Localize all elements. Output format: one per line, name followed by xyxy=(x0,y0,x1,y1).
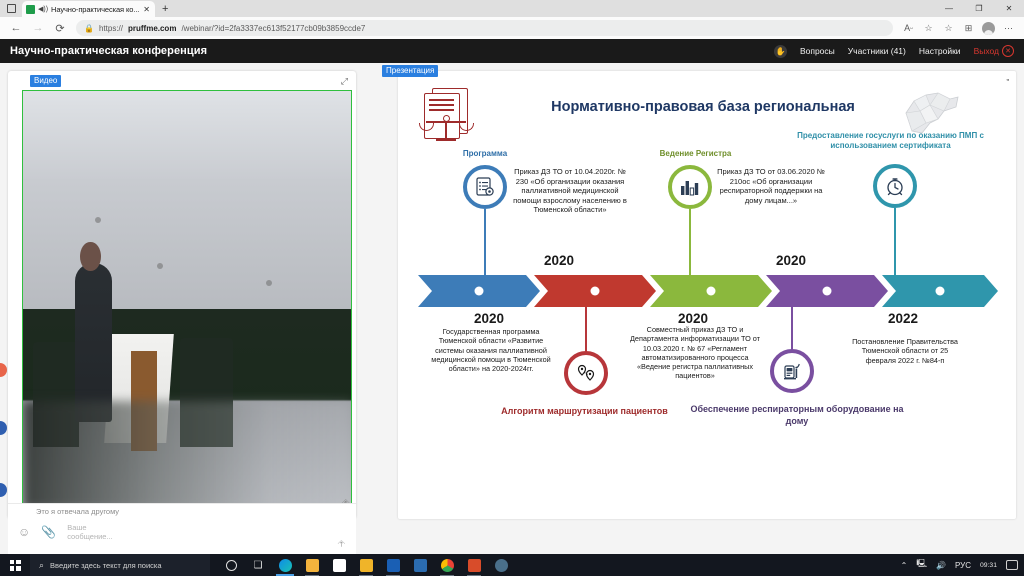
slide-title: Нормативно-правовая база региональная xyxy=(538,99,868,115)
order-text-210os: Приказ ДЗ ТО от 03.06.2020 № 210ос «Об о… xyxy=(716,167,826,205)
video-spot xyxy=(95,217,101,223)
video-speaker-head xyxy=(80,242,100,271)
exit-label: Выход xyxy=(974,46,999,56)
entry-year: 2022 xyxy=(848,311,958,326)
chrome-icon[interactable] xyxy=(434,554,460,576)
edge-badge-participant[interactable] xyxy=(0,421,7,435)
volume-icon[interactable]: 🔊 xyxy=(936,561,946,570)
chat-last-message: Это я отвечала другому xyxy=(36,507,119,516)
browser-essentials-icon[interactable]: ⊞ xyxy=(959,19,978,37)
chat-input-row: ☺ 📎 Ваше сообщение... xyxy=(18,523,125,541)
tab-list-icon xyxy=(7,4,16,13)
speaker-icon[interactable]: ◀)) xyxy=(38,6,48,13)
caption-routing: Алгоритм маршрутизации пациентов xyxy=(482,405,687,417)
nav-item-participants[interactable]: Участники (41) xyxy=(848,46,906,56)
language-indicator[interactable]: РУС xyxy=(955,561,971,570)
app-nav: ✋ Вопросы Участники (41) Настройки Выход… xyxy=(774,45,1014,58)
search-input[interactable]: ⌕ Введите здесь текст для поиска xyxy=(30,554,210,576)
node-registr xyxy=(668,165,712,209)
node-programma xyxy=(463,165,507,209)
site-favicon xyxy=(26,5,35,14)
clock-icon xyxy=(884,175,906,197)
clock[interactable]: 09:31 xyxy=(980,561,997,570)
heading-gosuslugi: Предоставление госуслуги по оказанию ПМП… xyxy=(788,131,993,151)
year-above-band: 2020 xyxy=(776,253,806,268)
tab-list-button[interactable] xyxy=(0,0,22,17)
video-blur-overlay xyxy=(23,401,351,510)
edge-badge-notification[interactable] xyxy=(0,363,7,377)
tab-presentation[interactable]: Презентация xyxy=(382,65,438,77)
order-text-230: Приказ ДЗ ТО от 10.04.2020г. № 230 «Об о… xyxy=(510,167,630,215)
collections-settings-icon[interactable]: ☆ xyxy=(919,19,938,37)
video-spot xyxy=(266,280,272,286)
heading-vedenie-registra: Ведение Регистра xyxy=(643,149,748,159)
edge-icon[interactable] xyxy=(272,554,298,576)
address-bar[interactable]: 🔒 https://pruffme.com/webinar/?id=2fa333… xyxy=(76,20,893,36)
chevron-red xyxy=(534,275,656,307)
entry-year: 2020 xyxy=(638,311,748,326)
search-placeholder: Введите здесь текст для поиска xyxy=(50,561,162,570)
connector-line xyxy=(894,208,896,285)
heading-programma: Программа xyxy=(440,149,530,159)
exit-button[interactable]: Выход ✕ xyxy=(974,45,1014,57)
back-icon[interactable]: ← xyxy=(6,19,26,37)
chevron-green xyxy=(650,275,772,307)
url-domain: pruffme.com xyxy=(128,24,176,33)
search-icon: ⌕ xyxy=(39,560,44,571)
forward-icon[interactable]: → xyxy=(28,19,48,37)
app-body: ⤢ Видео ⇱ Это я отвечала xyxy=(0,63,1024,554)
task-view-icon[interactable]: ❏ xyxy=(245,554,271,576)
page-title: Научно-практическая конференция xyxy=(10,45,207,57)
lock-icon: 🔒 xyxy=(84,24,94,33)
year-above-band: 2020 xyxy=(544,253,574,268)
node-certificate xyxy=(873,164,917,208)
windows-taskbar: ⌕ Введите здесь текст для поиска ❏ ⌃ 🖳 🔊… xyxy=(0,554,1024,576)
resize-handle-icon[interactable]: ⇱ xyxy=(336,539,346,549)
browser-titlebar: ◀)) Научно-практическая ко... ✕ + — ❐ ✕ xyxy=(0,0,1024,17)
microsoft-store-icon[interactable] xyxy=(299,554,325,576)
entry-text: Постановление Правительства Тюменской об… xyxy=(850,337,960,365)
entry-text: Совместный приказ ДЗ ТО и Департамента и… xyxy=(624,325,766,381)
video-panel-tabbar: ⤢ Видео xyxy=(8,71,356,89)
notifications-icon[interactable] xyxy=(1006,560,1018,570)
screen: ◀)) Научно-практическая ко... ✕ + — ❐ ✕ … xyxy=(0,0,1024,576)
node-respiratory xyxy=(770,349,814,393)
browser-toolbar: ← → ⟳ 🔒 https://pruffme.com/webinar/?id=… xyxy=(0,17,1024,39)
minimize-button[interactable]: — xyxy=(934,0,964,17)
video-panel: ⤢ Видео ⇱ xyxy=(8,71,356,519)
map-pins-icon xyxy=(575,362,597,384)
nav-item-questions[interactable]: Вопросы xyxy=(800,46,835,56)
chat-panel: Это я отвечала другому ☺ 📎 Ваше сообщени… xyxy=(8,503,356,554)
entry-year: 2020 xyxy=(434,311,544,326)
node-routing xyxy=(564,351,608,395)
slide-canvas[interactable]: Нормативно-правовая база региональная Пр… xyxy=(398,81,1016,509)
gimp-icon[interactable] xyxy=(461,554,487,576)
connector-line xyxy=(689,209,691,285)
chat-message-input[interactable]: Ваше сообщение... xyxy=(67,523,125,541)
raise-hand-icon[interactable]: ✋ xyxy=(774,45,787,58)
video-ceiling xyxy=(23,91,351,179)
browser-tool-icons: Aᴗ ☆ ☆ ⊞ ⋯ xyxy=(899,19,1018,37)
profile-avatar-icon[interactable] xyxy=(979,19,998,37)
nav-item-settings[interactable]: Настройки xyxy=(919,46,961,56)
reload-icon[interactable]: ⟳ xyxy=(50,19,70,37)
chevron-blue xyxy=(418,275,540,307)
remote-desktop-icon[interactable] xyxy=(407,554,433,576)
chevron-teal xyxy=(882,275,998,307)
outlook-icon[interactable] xyxy=(380,554,406,576)
browser-tab[interactable]: ◀)) Научно-практическая ко... ✕ xyxy=(22,1,155,17)
window-close-button[interactable]: ✕ xyxy=(994,0,1024,17)
tray-chevron-icon[interactable]: ⌃ xyxy=(901,561,908,570)
paperclip-icon[interactable]: 📎 xyxy=(41,525,56,539)
maximize-button[interactable]: ❐ xyxy=(964,0,994,17)
bar-chart-icon xyxy=(679,177,701,197)
chevron-dot xyxy=(475,287,484,296)
network-icon[interactable]: 🖳 xyxy=(916,558,927,572)
presentation-panel: ⤢ xyxy=(398,71,1016,519)
window-controls: — ❐ ✕ xyxy=(934,0,1024,17)
expand-icon[interactable]: ⤢ xyxy=(341,76,348,87)
app-header: Научно-практическая конференция ✋ Вопрос… xyxy=(0,39,1024,63)
url-scheme: https:// xyxy=(99,24,123,33)
respirator-device-icon xyxy=(781,360,803,382)
file-explorer-icon[interactable] xyxy=(353,554,379,576)
new-tab-button[interactable]: + xyxy=(155,1,175,17)
windows-start-icon[interactable] xyxy=(0,554,30,576)
close-icon[interactable]: ✕ xyxy=(142,5,151,14)
close-circle-icon: ✕ xyxy=(1002,45,1014,57)
document-gear-icon xyxy=(474,176,496,198)
chevron-dot xyxy=(936,287,945,296)
chevron-dot xyxy=(591,287,600,296)
chevron-dot xyxy=(823,287,832,296)
document-scales-icon xyxy=(418,88,476,150)
mail-icon[interactable] xyxy=(326,554,352,576)
system-tray: ⌃ 🖳 🔊 РУС 09:31 xyxy=(901,558,1024,572)
browser-tab-title: Научно-практическая ко... xyxy=(51,5,139,14)
video-speaker xyxy=(75,263,111,422)
chevron-dot xyxy=(707,287,716,296)
entry-text: Государственная программа Тюменской обла… xyxy=(424,327,558,373)
url-path: /webinar/?id=2fa3337ec613f52177cb09b3859… xyxy=(181,24,365,33)
favorites-icon[interactable]: ☆ xyxy=(939,19,958,37)
chevron-purple xyxy=(766,275,888,307)
taskbar-icons: ❏ xyxy=(218,554,514,576)
tab-video[interactable]: Видео xyxy=(30,75,61,87)
edge-badge-participant[interactable] xyxy=(0,483,7,497)
connector-line xyxy=(484,209,486,285)
emoji-icon[interactable]: ☺ xyxy=(18,525,30,539)
timeline-band xyxy=(418,275,998,307)
cortana-icon[interactable] xyxy=(218,554,244,576)
video-stream[interactable]: ⇱ xyxy=(22,90,352,511)
more-options-icon[interactable]: ⋯ xyxy=(999,19,1018,37)
read-aloud-icon[interactable]: Aᴗ xyxy=(899,19,918,37)
paint-icon[interactable] xyxy=(488,554,514,576)
caption-respiratory: Обеспечение респираторным оборудование н… xyxy=(682,403,912,427)
